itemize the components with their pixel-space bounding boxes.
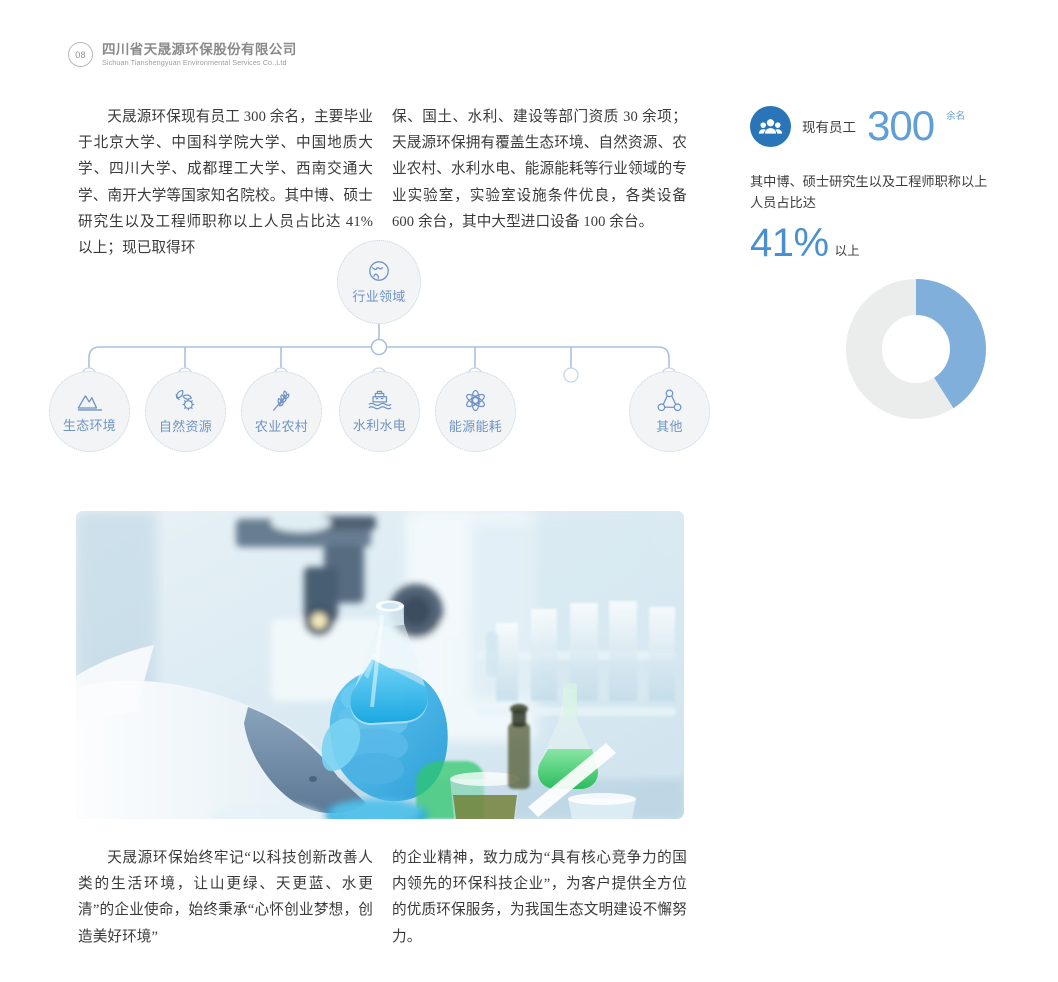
qualification-description: 其中博、硕士研究生以及工程师职称以上人员占比达 (750, 171, 992, 213)
diagram-node-3[interactable]: 水利水电 (339, 371, 420, 452)
leaf-gear-icon (173, 389, 198, 413)
diagram-node-1[interactable]: 自然资源 (145, 371, 226, 452)
employee-count-unit: 余名 (946, 108, 965, 122)
atom-icon (463, 388, 488, 413)
diagram-node-2[interactable]: 农业农村 (241, 371, 322, 452)
diagram-node-3-label: 水利水电 (353, 415, 406, 434)
laboratory-photo (76, 511, 684, 819)
network-icon (657, 389, 682, 413)
mountains-icon (77, 390, 103, 412)
body-paragraph-top-left: 天晟源环保现有员工 300 余名，主要毕业于北京大学、中国科学院大学、中国地质大… (78, 104, 373, 261)
diagram-node-root-label: 行业领域 (352, 286, 405, 305)
percentage-stat: 41% 以上 (750, 223, 1000, 263)
body-paragraph-bottom-left: 天晟源环保始终牢记“以科技创新改善人类的生活环境，让山更绿、天更蓝、水更清”的企… (78, 845, 373, 950)
industry-fields-diagram: 行业领域 生态环境 自然资源 (78, 240, 688, 475)
diagram-node-1-label: 自然资源 (159, 416, 212, 435)
diagram-node-4-label: 能源能耗 (449, 416, 502, 435)
diagram-node-4[interactable]: 能源能耗 (435, 371, 516, 452)
body-paragraph-bottom-right: 的企业精神，致力成为“具有核心竞争力的国内领先的环保科技企业”，为客户提供全方位… (392, 845, 687, 950)
diagram-node-2-label: 农业农村 (255, 416, 308, 435)
percentage-suffix: 以上 (835, 240, 860, 263)
dam-icon (367, 389, 393, 412)
diagram-node-root[interactable]: 行业领域 (337, 240, 421, 324)
employee-count-value: 300 (867, 105, 934, 147)
diagram-node-0[interactable]: 生态环境 (49, 371, 130, 452)
statistics-panel: 现有员工 300 余名 其中博、硕士研究生以及工程师职称以上人员占比达 41% … (750, 105, 1000, 424)
wheat-icon (270, 388, 294, 413)
donut-chart (846, 279, 1000, 424)
body-paragraph-top-right: 保、国土、水利、建设等部门资质 30 余项；天晟源环保拥有覆盖生态环境、自然资源… (392, 104, 687, 235)
people-group-icon (750, 106, 791, 147)
page-number-badge: 08 (68, 42, 93, 67)
diagram-node-5-label: 其他 (656, 416, 683, 435)
percentage-value: 41% (750, 223, 829, 263)
company-name-en: Sichuan Tianshengyuan Environmental Serv… (102, 59, 297, 68)
employee-count-label: 现有员工 (802, 116, 856, 136)
company-name-block: 四川省天晟源环保股份有限公司 Sichuan Tianshengyuan Env… (102, 42, 297, 67)
diagram-node-5[interactable]: 其他 (629, 371, 710, 452)
page-header: 08 四川省天晟源环保股份有限公司 Sichuan Tianshengyuan … (68, 42, 297, 67)
employee-stat-headline: 现有员工 300 余名 (750, 105, 1000, 147)
diagram-node-0-label: 生态环境 (63, 415, 116, 434)
company-name-cn: 四川省天晟源环保股份有限公司 (102, 42, 297, 58)
globe-icon (367, 259, 391, 283)
